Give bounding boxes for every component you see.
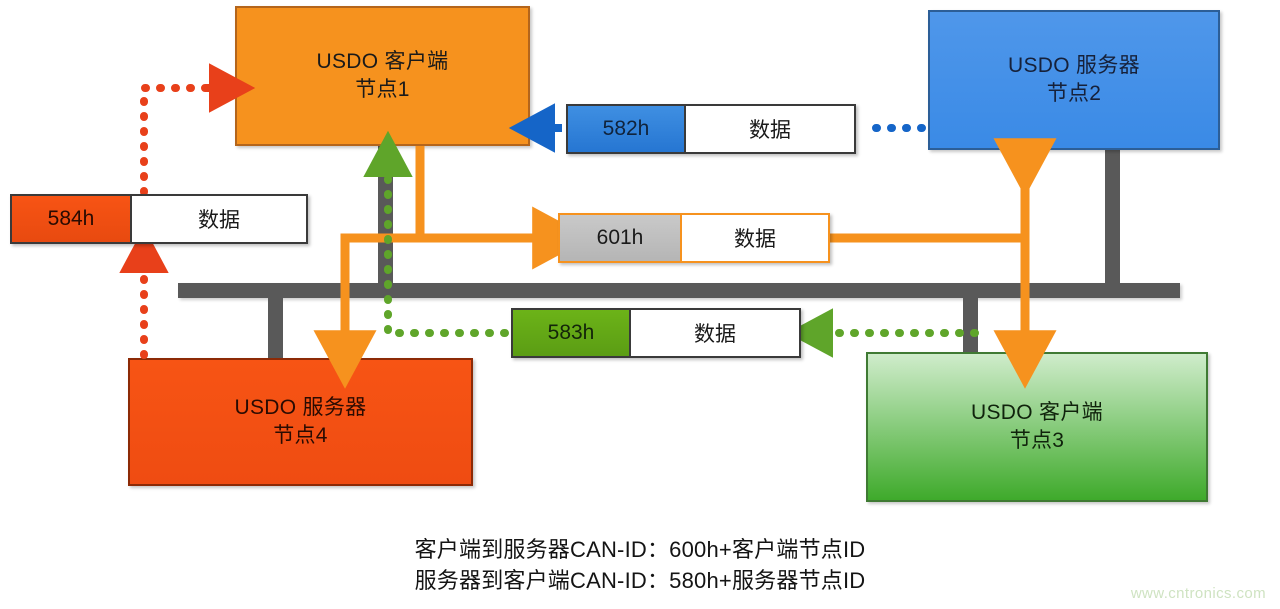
can-frame-583h[interactable]: 583h 数据 — [511, 308, 801, 358]
can-frame-584h[interactable]: 584h 数据 — [10, 194, 308, 244]
can-frame-582h[interactable]: 582h 数据 — [566, 104, 856, 154]
can-frame-582h-id: 582h — [568, 106, 684, 152]
can-frame-601h-id: 601h — [560, 215, 680, 261]
link-584h-to-node1 — [144, 88, 222, 192]
can-frame-601h[interactable]: 601h 数据 — [558, 213, 830, 263]
connector-layer — [0, 0, 1280, 609]
can-frame-583h-id: 583h — [513, 310, 629, 356]
can-frame-583h-payload: 数据 — [629, 310, 799, 356]
link-583h-to-node1 — [388, 162, 505, 333]
can-frame-582h-payload: 数据 — [684, 106, 854, 152]
link-node1-to-601h — [420, 146, 552, 238]
can-frame-601h-payload: 数据 — [680, 215, 828, 261]
link-node1-to-node4 — [345, 238, 420, 350]
can-frame-584h-payload: 数据 — [130, 196, 306, 242]
can-frame-584h-id: 584h — [12, 196, 130, 242]
diagram-canvas: USDO 客户端 节点1 USDO 服务器 节点2 USDO 客户端 节点3 U… — [0, 0, 1280, 609]
